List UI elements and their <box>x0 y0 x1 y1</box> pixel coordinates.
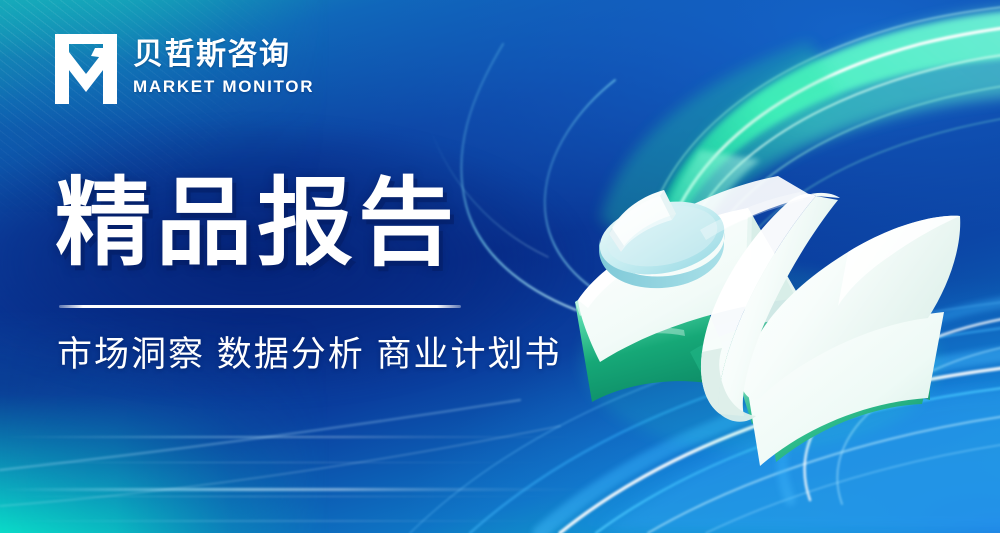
brand-wordmark: 贝哲斯咨询 MARKET MONITOR <box>133 38 314 99</box>
market-monitor-m-logo-icon <box>55 34 117 104</box>
page-title: 精品报告 <box>55 173 459 275</box>
brand-logo[interactable]: 贝哲斯咨询 MARKET MONITOR <box>55 34 314 104</box>
brand-name-cn: 贝哲斯咨询 <box>133 38 314 72</box>
page-subtitle: 市场洞察 数据分析 商业计划书 <box>57 331 561 378</box>
brand-name-en: MARKET MONITOR <box>133 74 314 100</box>
report-banner: 贝哲斯咨询 MARKET MONITOR 精品报告 市场洞察 数据分析 商业计划… <box>0 0 1000 533</box>
title-divider <box>59 305 461 308</box>
